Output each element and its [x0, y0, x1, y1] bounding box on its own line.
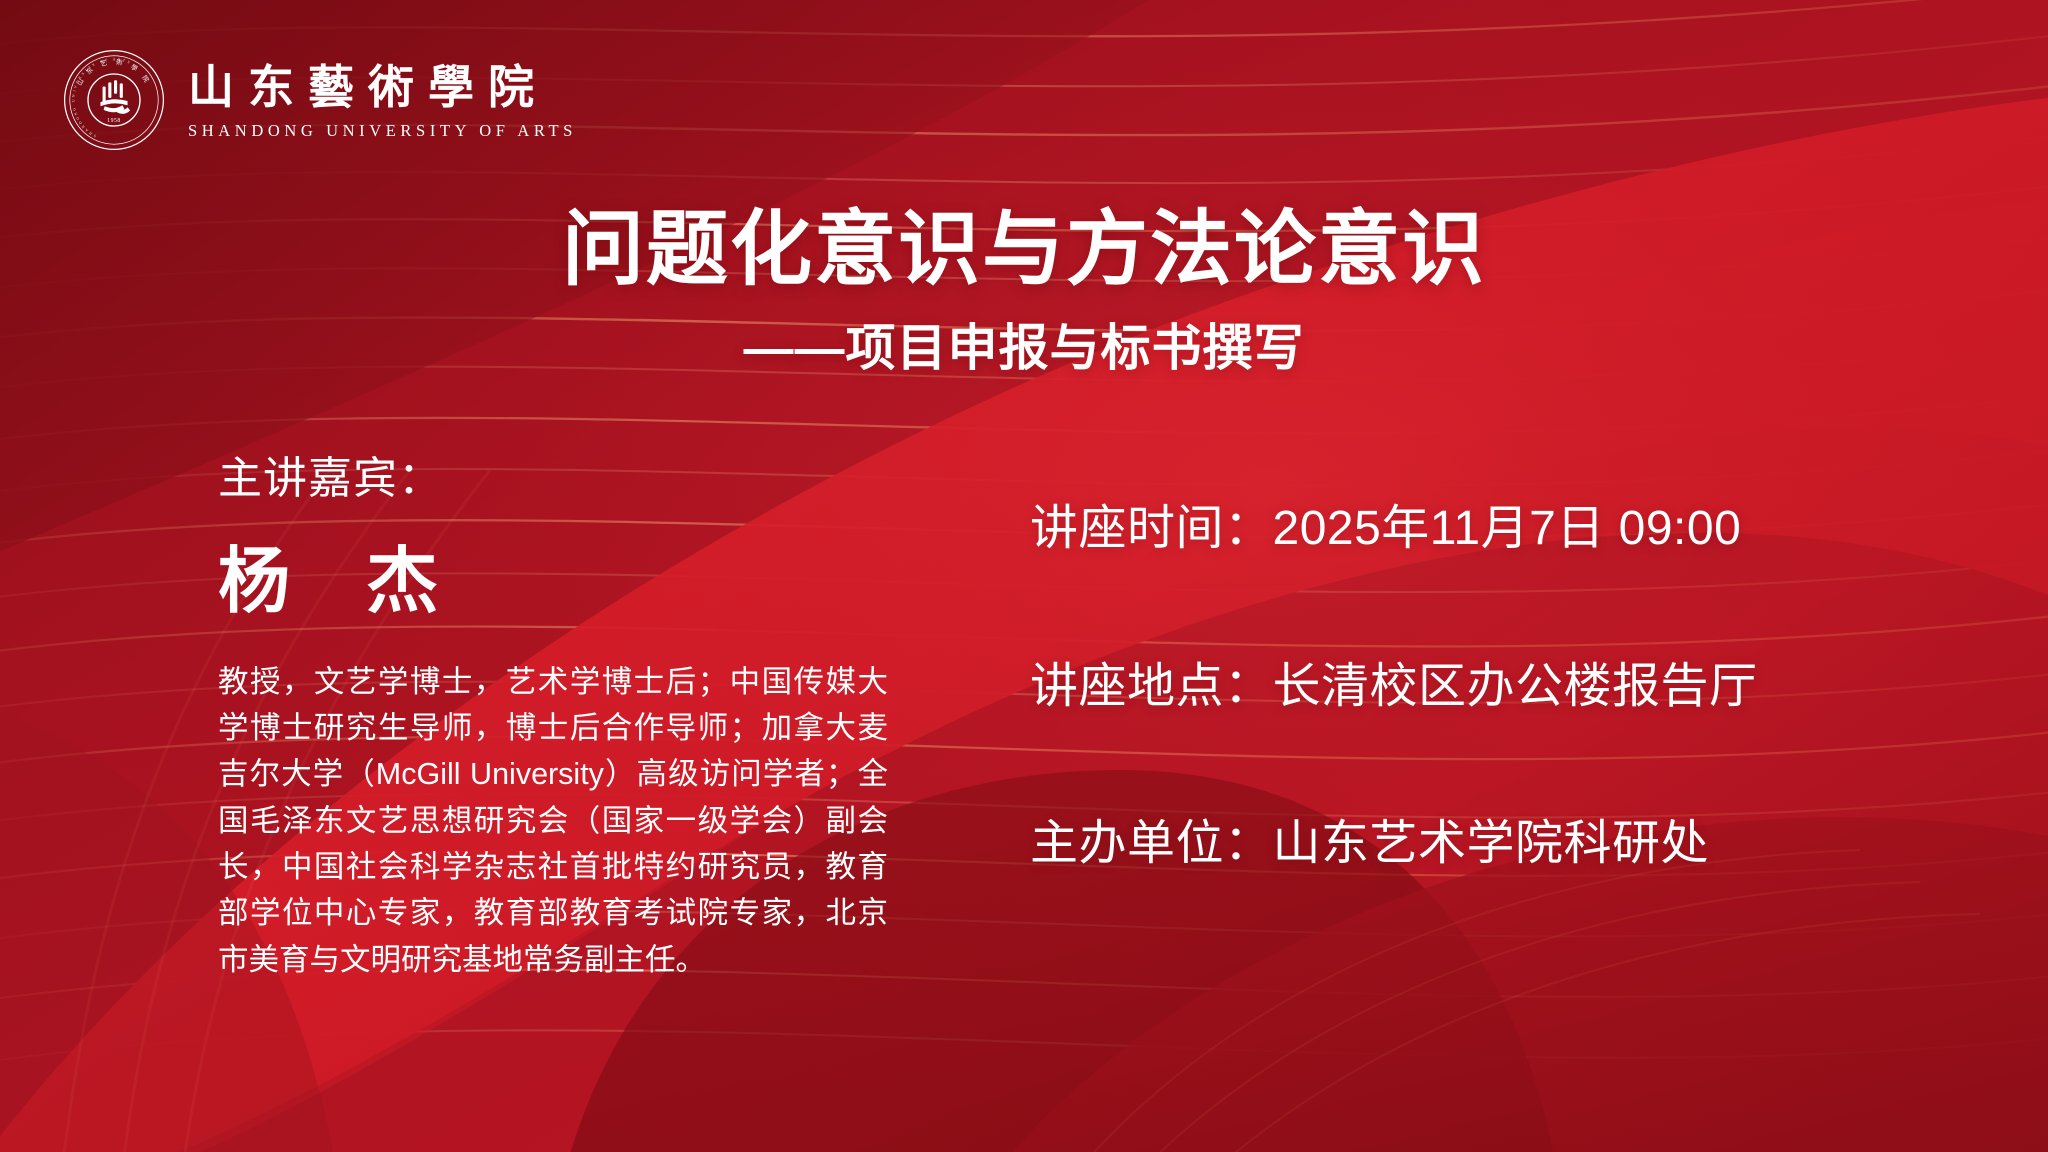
brand-name-cn: 山东藝術學院 [188, 63, 577, 113]
svg-text:S: S [81, 72, 85, 76]
seal-emblem-icon [100, 80, 130, 114]
svg-text:學: 學 [129, 62, 140, 73]
svg-text:F: F [105, 58, 108, 62]
svg-text:T: T [122, 58, 126, 63]
seal-year: 1958 [107, 118, 121, 124]
svg-text:N: N [73, 112, 78, 116]
title-block: 问题化意识与方法论意识 ——项目申报与标书撰写 [0, 205, 2048, 376]
svg-text:N: N [72, 94, 76, 97]
brand-text: 山东藝術學院 SHANDONG UNIVERSITY OF ARTS [188, 59, 577, 141]
speaker-bio: 教授，文艺学博士，艺术学博士后；中国传媒大学博士研究生导师，博士后合作导师；加拿… [218, 659, 888, 984]
info-value-venue: 长清校区办公楼报告厅 [1273, 660, 1758, 713]
event-info-column: 讲座时间：2025年11月7日 09:00 讲座地点：长清校区办公楼报告厅 主办… [1030, 500, 2010, 873]
info-label-venue: 讲座地点： [1030, 660, 1273, 713]
svg-text:A: A [113, 57, 116, 61]
svg-text:院: 院 [140, 73, 151, 84]
svg-text:A: A [84, 128, 89, 133]
bg-bottom-arcs [1060, 850, 1980, 1152]
svg-text:O: O [75, 116, 80, 120]
svg-text:G: G [72, 107, 77, 111]
svg-text:N: N [81, 124, 86, 129]
info-label-organizer: 主办单位： [1030, 817, 1273, 870]
brand-lockup: 1958 山 东 艺 術 學 院 S H A N D O N G U N [62, 48, 577, 152]
info-value-time: 2025年11月7日 09:00 [1273, 502, 1742, 555]
svg-text:I: I [72, 89, 76, 92]
svg-text:H: H [88, 131, 93, 136]
svg-text:S: S [93, 134, 97, 139]
svg-text:U: U [71, 99, 75, 102]
svg-text:D: D [78, 120, 83, 125]
university-seal-icon: 1958 山 东 艺 術 學 院 S H A N D O N G U N [62, 48, 166, 152]
info-label-time: 讲座时间： [1030, 502, 1273, 555]
speaker-name: 杨 杰 [218, 543, 918, 622]
info-value-organizer: 山东艺术学院科研处 [1273, 817, 1710, 870]
info-row-venue: 讲座地点：长清校区办公楼报告厅 [1030, 658, 2010, 716]
info-row-organizer: 主办单位：山东艺术学院科研处 [1030, 815, 2010, 873]
svg-text:S: S [127, 60, 130, 64]
lecture-poster: 1958 山 东 艺 術 學 院 S H A N D O N G U N [0, 0, 2048, 1152]
svg-text:V: V [73, 85, 78, 89]
speaker-label: 主讲嘉宾： [218, 455, 918, 503]
page-subtitle: ——项目申报与标书撰写 [0, 321, 2048, 376]
brand-name-en: SHANDONG UNIVERSITY OF ARTS [188, 120, 577, 141]
svg-text:Y: Y [92, 62, 97, 67]
page-title: 问题化意识与方法论意识 [0, 205, 2048, 295]
speaker-column: 主讲嘉宾： 杨 杰 教授，文艺学博士，艺术学博士后；中国传媒大学博士研究生导师，… [218, 455, 918, 983]
info-row-time: 讲座时间：2025年11月7日 09:00 [1030, 500, 2010, 558]
